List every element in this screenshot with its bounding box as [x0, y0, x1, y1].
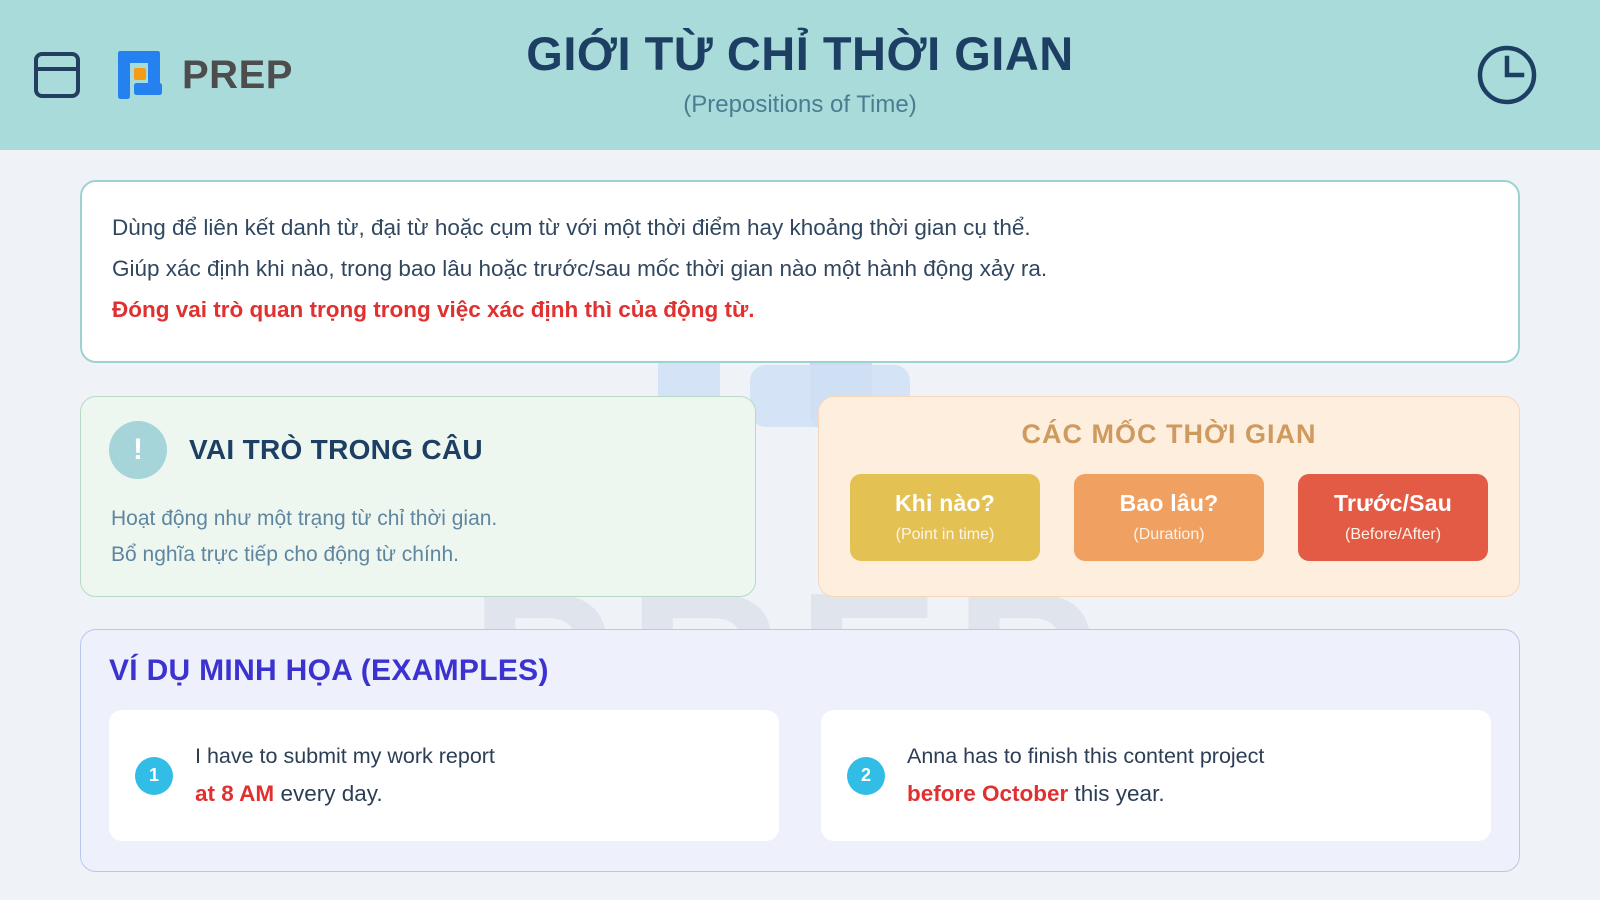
role-card: ! VAI TRÒ TRONG CÂU Hoạt động như một tr…	[80, 396, 756, 597]
milestone-tag-list: Khi nào? (Point in time) Bao lâu? (Durat…	[849, 474, 1489, 561]
example-line-1: I have to submit my work report	[195, 738, 495, 775]
milestone-card: CÁC MỐC THỜI GIAN Khi nào? (Point in tim…	[818, 396, 1520, 597]
role-body: Hoạt động như một trạng từ chỉ thời gian…	[109, 501, 727, 573]
role-line-1: Hoạt động như một trạng từ chỉ thời gian…	[111, 501, 727, 537]
example-card-2: 2 Anna has to finish this content projec…	[821, 710, 1491, 842]
clock-icon	[1476, 44, 1538, 106]
page-header: PREP GIỚI TỪ CHỈ THỜI GIAN (Prepositions…	[0, 0, 1600, 150]
main-content: Dùng để liên kết danh từ, đại từ hoặc cụ…	[0, 150, 1600, 872]
example-rest: every day.	[274, 781, 382, 806]
header-left-group: PREP	[34, 49, 464, 101]
definition-line-2: Giúp xác định khi nào, trong bao lâu hoặ…	[112, 249, 1488, 290]
definition-line-1: Dùng để liên kết danh từ, đại từ hoặc cụ…	[112, 208, 1488, 249]
milestone-tag-truoc-sau[interactable]: Trước/Sau (Before/After)	[1298, 474, 1488, 561]
tag-label: Trước/Sau	[1304, 491, 1482, 516]
page-title: GIỚI TỪ CHỈ THỜI GIAN	[464, 28, 1136, 80]
tag-sublabel: (Point in time)	[856, 526, 1034, 544]
header-right-group	[1136, 44, 1566, 106]
brand-name: PREP	[182, 53, 293, 98]
role-title: VAI TRÒ TRONG CÂU	[189, 434, 483, 466]
brand-logo: PREP	[116, 49, 293, 101]
exclamation-icon: !	[109, 421, 167, 479]
prep-logo-mark	[116, 49, 170, 101]
example-text: I have to submit my work report at 8 AM …	[195, 738, 495, 814]
example-line-1: Anna has to finish this content project	[907, 738, 1264, 775]
examples-title: VÍ DỤ MINH HỌA (EXAMPLES)	[109, 654, 1491, 688]
example-text: Anna has to finish this content project …	[907, 738, 1264, 814]
example-highlight: before October	[907, 781, 1068, 806]
example-card-1: 1 I have to submit my work report at 8 A…	[109, 710, 779, 842]
example-highlight: at 8 AM	[195, 781, 274, 806]
definition-highlight: Đóng vai trò quan trọng trong việc xác đ…	[112, 290, 1488, 331]
info-row: ! VAI TRÒ TRONG CÂU Hoạt động như một tr…	[80, 396, 1520, 597]
page-subtitle: (Prepositions of Time)	[464, 92, 1136, 118]
example-rest: this year.	[1068, 781, 1164, 806]
role-line-2: Bổ nghĩa trực tiếp cho động từ chính.	[111, 537, 727, 573]
tag-label: Khi nào?	[856, 491, 1034, 516]
tag-sublabel: (Duration)	[1080, 526, 1258, 544]
examples-panel: VÍ DỤ MINH HỌA (EXAMPLES) 1 I have to su…	[80, 629, 1520, 873]
header-title-group: GIỚI TỪ CHỈ THỜI GIAN (Prepositions of T…	[464, 28, 1136, 118]
milestone-tag-khi-nao[interactable]: Khi nào? (Point in time)	[850, 474, 1040, 561]
example-line-2: before October this year.	[907, 775, 1264, 814]
milestone-title: CÁC MỐC THỜI GIAN	[849, 419, 1489, 450]
layout-panel-icon[interactable]	[34, 52, 80, 98]
role-header: ! VAI TRÒ TRONG CÂU	[109, 421, 727, 479]
example-number-badge: 1	[135, 757, 173, 795]
example-number-badge: 2	[847, 757, 885, 795]
example-line-2: at 8 AM every day.	[195, 775, 495, 814]
definition-card: Dùng để liên kết danh từ, đại từ hoặc cụ…	[80, 180, 1520, 363]
milestone-tag-bao-lau[interactable]: Bao lâu? (Duration)	[1074, 474, 1264, 561]
tag-sublabel: (Before/After)	[1304, 526, 1482, 544]
tag-label: Bao lâu?	[1080, 491, 1258, 516]
examples-row: 1 I have to submit my work report at 8 A…	[109, 710, 1491, 842]
